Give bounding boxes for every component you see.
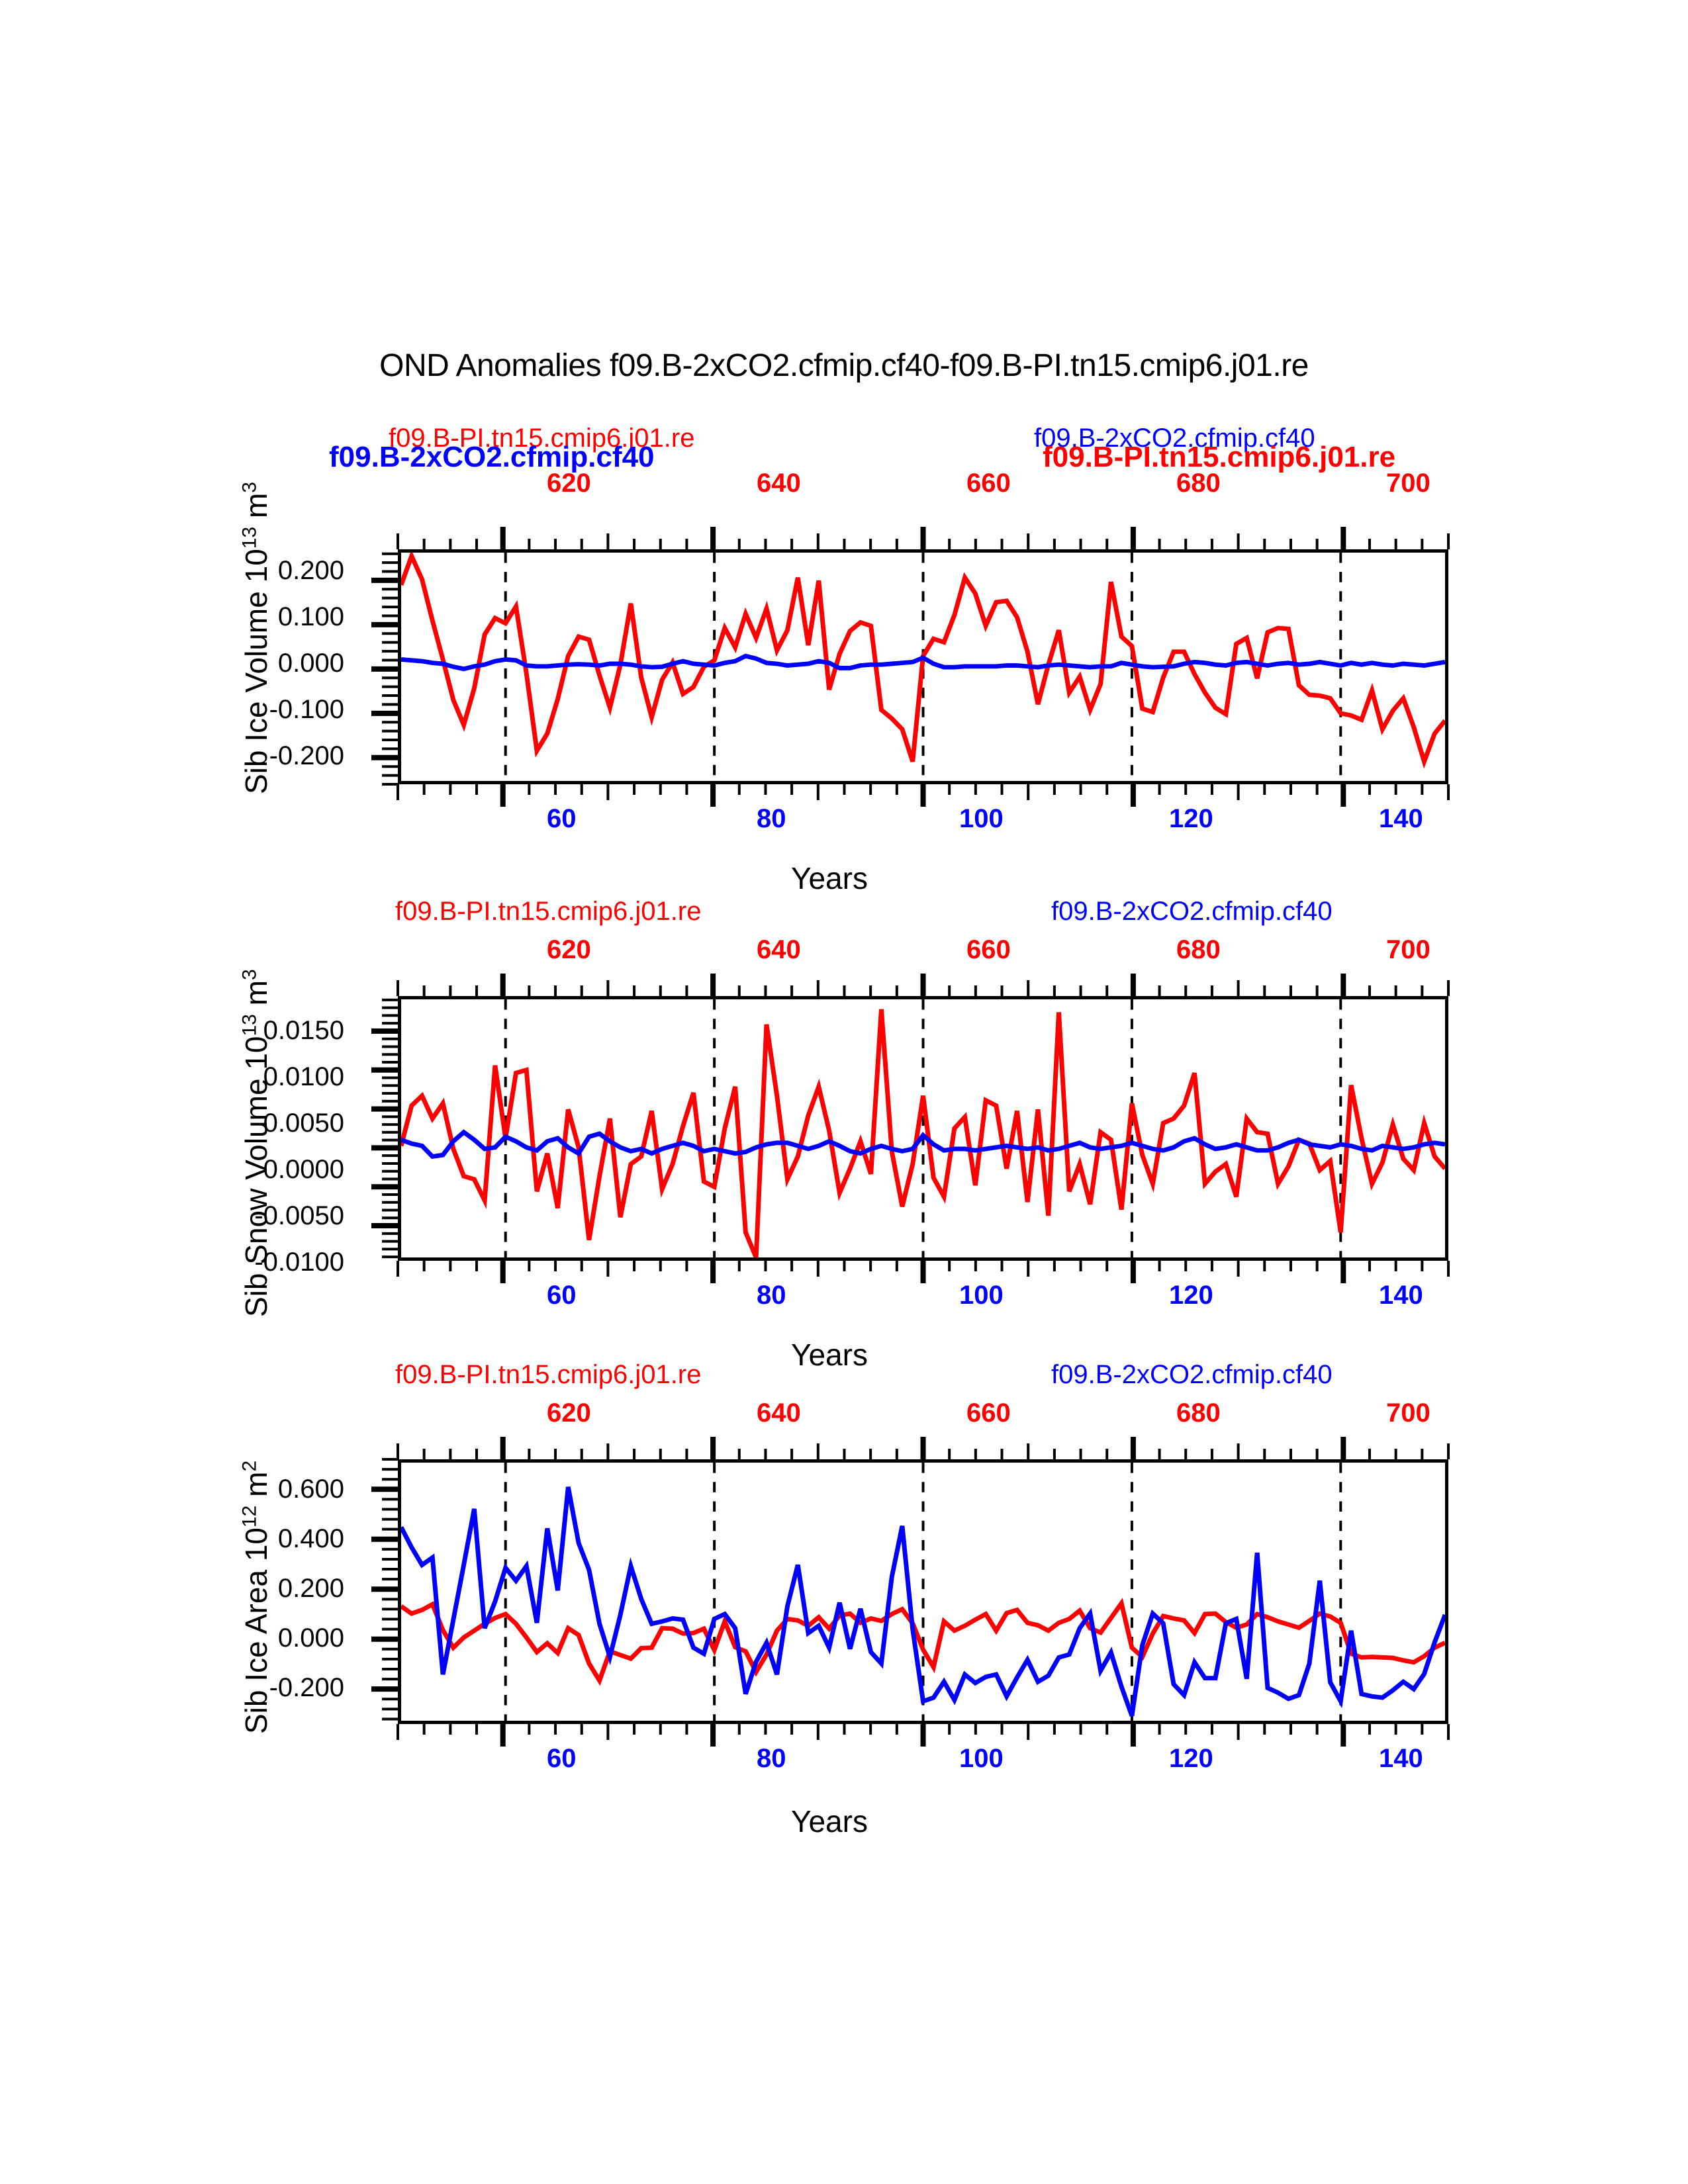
top-tick-700-panel3: 700 bbox=[1386, 1398, 1430, 1428]
yaxis-unit-p1: m bbox=[239, 493, 273, 527]
legend-red-left-panel3: f09.B-PI.tn15.cmip6.j01.re bbox=[395, 1360, 701, 1390]
plot-svg-panel2 bbox=[401, 999, 1445, 1257]
top-tick-620-panel3: 620 bbox=[547, 1398, 591, 1428]
top-tick-640-panel1: 640 bbox=[757, 469, 801, 498]
top-tick-680-panel3: 680 bbox=[1176, 1398, 1221, 1428]
plot-svg-panel1 bbox=[401, 553, 1445, 781]
xaxis-title-panel1: Years bbox=[791, 860, 868, 896]
yaxis-unit-p2: m bbox=[239, 980, 273, 1014]
bottom-tick-80-panel3: 80 bbox=[757, 1744, 786, 1774]
legend-red-left-panel2: f09.B-PI.tn15.cmip6.j01.re bbox=[395, 897, 701, 927]
top-tick-660-panel2: 660 bbox=[966, 935, 1011, 965]
xaxis-title-panel2: Years bbox=[791, 1337, 868, 1373]
bottom-tick-120-panel2: 120 bbox=[1169, 1281, 1213, 1310]
bottom-tick-140-panel3: 140 bbox=[1379, 1744, 1423, 1774]
yaxis-title-panel1: Sib Ice Volume 1013 m3 bbox=[238, 482, 274, 794]
bottom-tick-80-panel1: 80 bbox=[757, 804, 786, 834]
bottom-tick-120-panel1: 120 bbox=[1169, 804, 1213, 834]
top-tick-660-panel1: 660 bbox=[966, 469, 1011, 498]
yaxis-title-text-p3: Sib Ice Area 10 bbox=[239, 1527, 273, 1734]
legend-blue-right-panel3: f09.B-2xCO2.cfmip.cf40 bbox=[1051, 1360, 1333, 1390]
bottom-tick-60-panel3: 60 bbox=[547, 1744, 577, 1774]
yaxis-unit-exp-p2: 3 bbox=[239, 969, 261, 980]
top-tick-620-panel1: 620 bbox=[547, 469, 591, 498]
top-tick-680-panel1: 680 bbox=[1176, 469, 1221, 498]
yaxis-exp-p2: 13 bbox=[239, 1014, 261, 1036]
bottom-tick-60-panel2: 60 bbox=[547, 1281, 577, 1310]
bottom-tick-100-panel2: 100 bbox=[959, 1281, 1004, 1310]
plot-area-panel2 bbox=[398, 996, 1448, 1261]
xaxis-title-panel3: Years bbox=[791, 1803, 868, 1839]
bottom-tick-60-panel1: 60 bbox=[547, 804, 577, 834]
bottom-tick-100-panel1: 100 bbox=[959, 804, 1004, 834]
top-tick-700-panel2: 700 bbox=[1386, 935, 1430, 965]
figure-canvas: OND Anomalies f09.B-2xCO2.cfmip.cf40-f09… bbox=[0, 0, 1688, 2184]
plot-svg-panel3 bbox=[401, 1463, 1445, 1721]
page-title: OND Anomalies f09.B-2xCO2.cfmip.cf40-f09… bbox=[0, 347, 1688, 384]
yaxis-title-panel3: Sib Ice Area 1012 m2 bbox=[238, 1461, 274, 1734]
bottom-tick-140-panel2: 140 bbox=[1379, 1281, 1423, 1310]
top-tick-680-panel2: 680 bbox=[1176, 935, 1221, 965]
gridlines-panel2 bbox=[506, 999, 1341, 1257]
bottom-tick-80-panel2: 80 bbox=[757, 1281, 786, 1310]
yaxis-unit-exp-p1: 3 bbox=[239, 482, 261, 493]
yaxis-unit-p3: m bbox=[239, 1472, 273, 1506]
yaxis-title-text-p2: Sib Snow Volume 10 bbox=[239, 1036, 273, 1318]
top-tick-660-panel3: 660 bbox=[966, 1398, 1011, 1428]
yaxis-exp-p1: 13 bbox=[239, 527, 261, 549]
legend-blue-right-panel2: f09.B-2xCO2.cfmip.cf40 bbox=[1051, 897, 1333, 927]
bottom-tick-140-panel1: 140 bbox=[1379, 804, 1423, 834]
top-tick-640-panel3: 640 bbox=[757, 1398, 801, 1428]
bottom-tick-100-panel3: 100 bbox=[959, 1744, 1004, 1774]
plot-area-panel1 bbox=[398, 549, 1448, 784]
yaxis-exp-p3: 12 bbox=[239, 1506, 261, 1527]
top-tick-620-panel2: 620 bbox=[547, 935, 591, 965]
yaxis-unit-exp-p3: 2 bbox=[239, 1461, 261, 1472]
yaxis-title-panel2: Sib Snow Volume 1013 m3 bbox=[238, 969, 274, 1317]
plot-area-panel3 bbox=[398, 1459, 1448, 1724]
legend-blue-left-panel1: f09.B-2xCO2.cfmip.cf40 bbox=[329, 441, 655, 474]
top-tick-700-panel1: 700 bbox=[1386, 469, 1430, 498]
bottom-tick-120-panel3: 120 bbox=[1169, 1744, 1213, 1774]
yaxis-title-text-p1: Sib Ice Volume 10 bbox=[239, 549, 273, 794]
top-tick-640-panel2: 640 bbox=[757, 935, 801, 965]
gridlines-panel3 bbox=[506, 1463, 1341, 1721]
